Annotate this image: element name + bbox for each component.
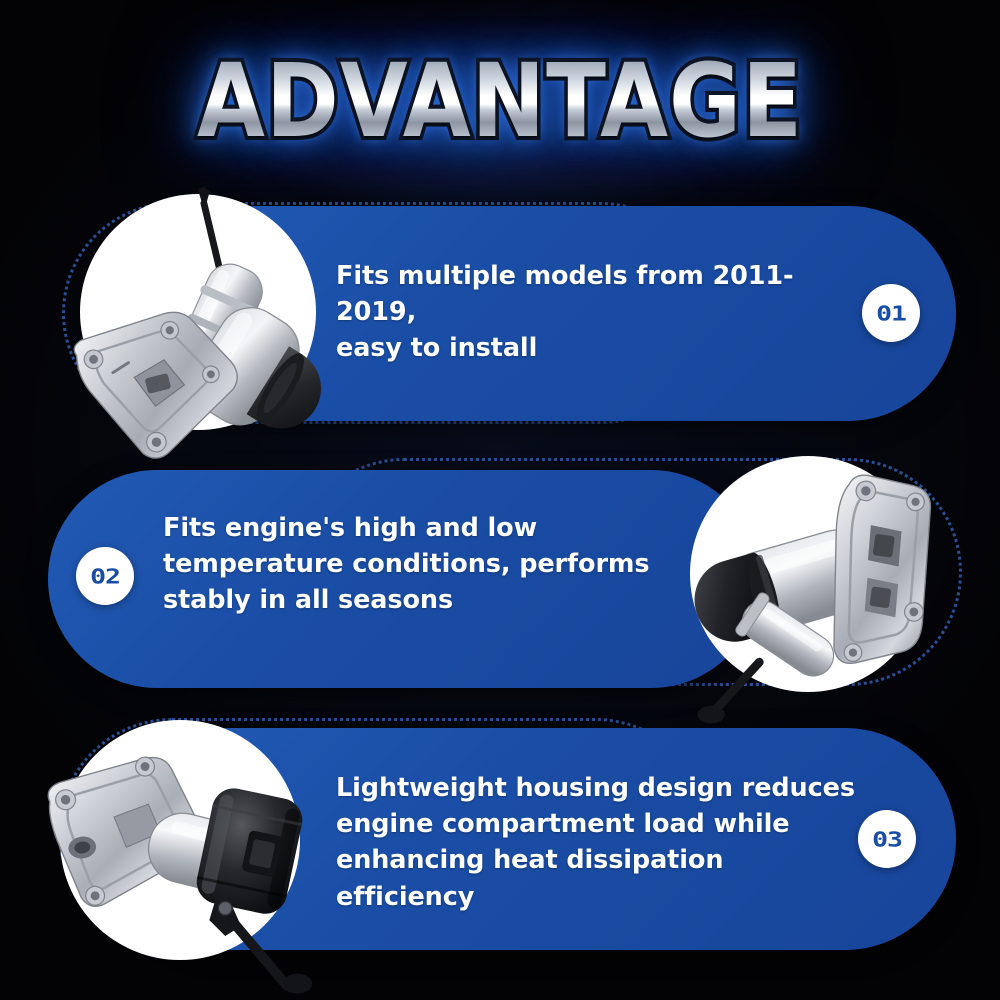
feature-number-badge: 02 [76, 547, 134, 605]
feature-number-label: 01 [876, 303, 906, 324]
product-image-circle [60, 720, 300, 960]
feature-row-3: Lightweight housing design reduces engin… [0, 708, 1000, 970]
feature-number-badge: 03 [858, 810, 916, 868]
feature-row-2: Fits engine's high and low temperature c… [0, 448, 1000, 700]
title-chrome-layer: ADVANTAGE [197, 51, 803, 152]
feature-text: Fits engine's high and low temperature c… [163, 510, 663, 619]
oil-filter-housing-icon [47, 170, 349, 463]
feature-number-badge: 01 [862, 284, 920, 342]
product-image-circle [80, 194, 316, 430]
feature-number-label: 03 [872, 829, 902, 850]
oil-filter-housing-icon [657, 432, 959, 725]
feature-number-label: 02 [90, 566, 120, 587]
feature-row-1: Fits multiple models from 2011-2019, eas… [0, 188, 1000, 440]
feature-text: Lightweight housing design reduces engin… [336, 770, 866, 915]
product-image-circle [690, 456, 926, 692]
feature-text: Fits multiple models from 2011-2019, eas… [336, 258, 856, 367]
oil-filter-housing-icon [26, 696, 333, 994]
page-title: ADVANTAGE ADVANTAGE ADVANTAGE [0, 42, 1000, 162]
title-stack: ADVANTAGE ADVANTAGE ADVANTAGE [203, 59, 797, 145]
